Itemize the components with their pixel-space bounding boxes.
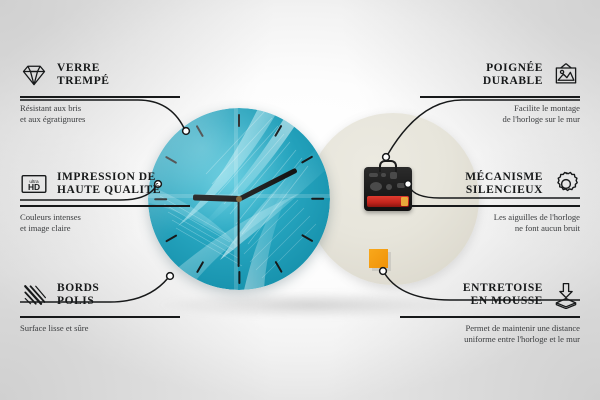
svg-text:HD: HD xyxy=(28,182,40,192)
feature-divider xyxy=(20,316,180,318)
feature-impression-haute-qualite: ultra HD IMPRESSION DE HAUTE QUALITÉ Cou… xyxy=(20,167,190,234)
feature-title: BORDS POLIS xyxy=(57,282,99,308)
feature-divider xyxy=(20,96,180,98)
clock-battery xyxy=(367,196,409,207)
polished-edges-icon xyxy=(20,281,48,309)
feature-subtitle: Facilite le montage de l'horloge sur le … xyxy=(420,103,580,125)
clock-second-hand xyxy=(238,199,240,267)
battery-positive-cap xyxy=(401,197,408,206)
feature-title: MÉCANISME SILENCIEUX xyxy=(465,171,543,197)
feature-divider xyxy=(400,316,580,318)
diamond-icon xyxy=(20,61,48,89)
feature-subtitle: Couleurs intenses et image claire xyxy=(20,212,190,234)
feature-subtitle: Permet de maintenir une distance uniform… xyxy=(400,323,580,345)
feature-poignee-durable: POIGNÉE DURABLE Facilite le montage de l… xyxy=(420,58,580,125)
ultra-hd-icon: ultra HD xyxy=(20,170,48,198)
feature-verre-trempe: VERRE TREMPÉ Résistant aux bris et aux é… xyxy=(20,58,180,125)
foam-spacer-sample xyxy=(369,249,388,268)
feature-title: POIGNÉE DURABLE xyxy=(483,62,543,88)
foam-spacer-icon xyxy=(552,281,580,309)
feature-mecanisme-silencieux: MÉCANISME SILENCIEUX Les aiguilles de l'… xyxy=(410,167,580,234)
feature-subtitle: Les aiguilles de l'horloge ne font aucun… xyxy=(410,212,580,234)
gear-icon xyxy=(552,170,580,198)
infographic-canvas: VERRE TREMPÉ Résistant aux bris et aux é… xyxy=(0,0,600,400)
feature-divider xyxy=(20,205,190,207)
clock-mechanism xyxy=(364,167,412,211)
feature-bords-polis: BORDS POLIS Surface lisse et sûre xyxy=(20,278,180,334)
feature-divider xyxy=(420,96,580,98)
feature-title: VERRE TREMPÉ xyxy=(57,62,110,88)
hanger-loop-icon xyxy=(379,160,397,172)
feature-subtitle: Résistant aux bris et aux égratignures xyxy=(20,103,180,125)
clock-tick xyxy=(238,271,240,284)
feature-entretoise-en-mousse: ENTRETOISE EN MOUSSE Permet de maintenir… xyxy=(400,278,580,345)
feature-title: ENTRETOISE EN MOUSSE xyxy=(463,282,543,308)
feature-divider xyxy=(410,205,580,207)
feature-title: IMPRESSION DE HAUTE QUALITÉ xyxy=(57,171,161,197)
picture-frame-icon xyxy=(552,61,580,89)
feature-subtitle: Surface lisse et sûre xyxy=(20,323,180,334)
clock-center-cap xyxy=(236,196,242,202)
